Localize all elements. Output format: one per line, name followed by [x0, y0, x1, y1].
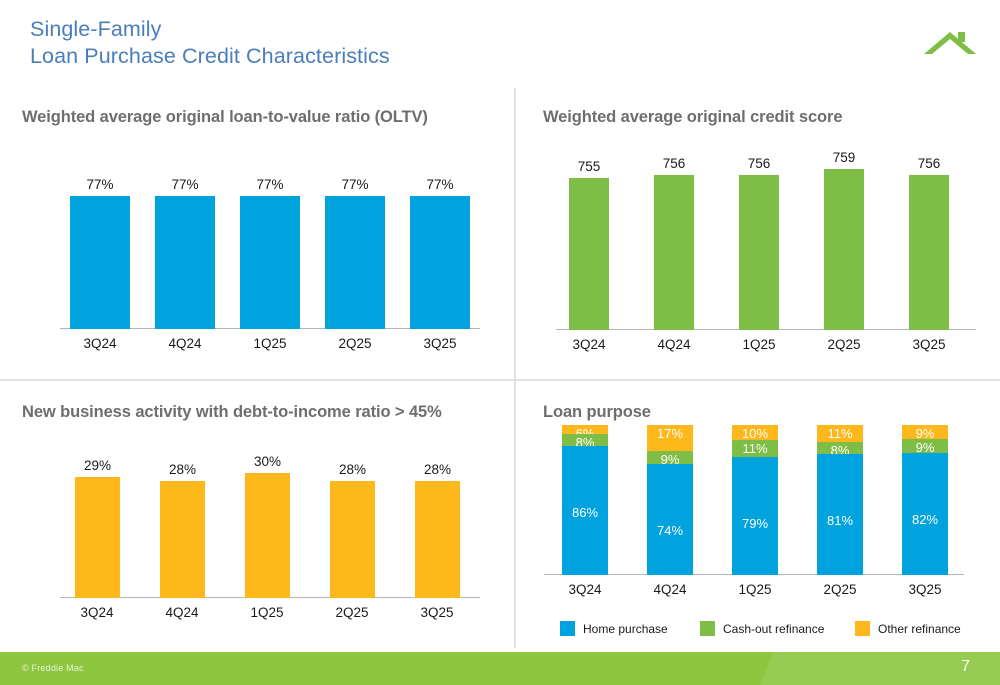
stack-segment-home-purchase[interactable]: 74% — [647, 464, 693, 575]
bar[interactable] — [739, 175, 779, 330]
x-axis-label: 4Q24 — [640, 582, 700, 597]
chart-oltv: 77% 77% 77% 77% 77% — [60, 174, 480, 329]
x-axis-label: 3Q24 — [559, 337, 619, 352]
bar-value-label: 77% — [256, 177, 283, 192]
x-axis-label: 4Q24 — [152, 605, 212, 620]
panel-credit-score: Weighted average original credit score 7… — [516, 88, 1000, 379]
stack-segment-label: 17% — [657, 425, 683, 441]
legend-item-other-refinance[interactable]: Other refinance — [855, 621, 961, 636]
stacked-bar-column[interactable]: 10% 11% 79% — [732, 425, 778, 575]
bar-column[interactable]: 755 — [569, 150, 609, 330]
legend-item-cash-out-refinance[interactable]: Cash-out refinance — [700, 621, 855, 636]
panel-oltv: Weighted average original loan-to-value … — [0, 88, 514, 379]
legend-label: Home purchase — [583, 622, 668, 636]
bar-column[interactable]: 77% — [70, 174, 130, 329]
stack-segment-label: 74% — [657, 522, 683, 538]
bar-value-label: 755 — [578, 159, 601, 174]
bar[interactable] — [245, 473, 290, 598]
legend-swatch-icon — [700, 621, 715, 636]
bar-value-label: 28% — [424, 462, 451, 477]
stack-segment-label: 86% — [572, 504, 598, 520]
stack-segment-home-purchase[interactable]: 81% — [817, 454, 863, 575]
bar-value-label: 756 — [663, 156, 686, 171]
bar[interactable] — [415, 481, 460, 598]
stack-segment-label: 82% — [912, 511, 938, 527]
stacked-bar-column[interactable]: 11% 8% 81% — [817, 425, 863, 575]
bar[interactable] — [155, 196, 215, 329]
page-title: Single-Family Loan Purchase Credit Chara… — [30, 16, 390, 70]
x-axis-label: 3Q25 — [895, 582, 955, 597]
bar-value-label: 756 — [748, 156, 771, 171]
stack-segment-home-purchase[interactable]: 82% — [902, 453, 948, 575]
panel-title-credit-score: Weighted average original credit score — [543, 106, 973, 129]
footer-copyright: © Freddie Mac — [22, 663, 84, 673]
bar-column[interactable]: 77% — [410, 174, 470, 329]
freddie-mac-house-logo — [922, 26, 978, 60]
stack-segment-home-purchase[interactable]: 86% — [562, 446, 608, 575]
x-axis-label: 3Q25 — [899, 337, 959, 352]
panel-title-dti: New business activity with debt-to-incom… — [22, 401, 472, 424]
bar[interactable] — [325, 196, 385, 329]
x-axis-label: 3Q24 — [70, 336, 130, 351]
chart-legend: Home purchase Cash-out refinance Other r… — [560, 621, 980, 636]
bar-column[interactable]: 30% — [245, 453, 290, 598]
stack-segment-other-refinance[interactable]: 10% — [732, 425, 778, 440]
legend-swatch-icon — [560, 621, 575, 636]
stacked-bar-column[interactable]: 9% 9% 82% — [902, 425, 948, 575]
stack-segment-cash-out-refinance[interactable]: 8% — [562, 434, 608, 446]
bar[interactable] — [240, 196, 300, 329]
legend-label: Cash-out refinance — [723, 622, 824, 636]
legend-swatch-icon — [855, 621, 870, 636]
stack-segment-other-refinance[interactable]: 9% — [902, 425, 948, 439]
stack-segment-other-refinance[interactable]: 11% — [817, 425, 863, 442]
x-axis-label: 3Q24 — [67, 605, 127, 620]
stacked-bar-column[interactable]: 6% 8% 86% — [562, 425, 608, 575]
chart-loan-purpose: 6% 8% 86% 17% 9% — [544, 425, 964, 575]
stack-segment-other-refinance[interactable]: 6% — [562, 425, 608, 434]
bar-column[interactable]: 759 — [824, 150, 864, 330]
x-axis-label: 1Q25 — [725, 582, 785, 597]
bar-value-label: 759 — [833, 150, 856, 165]
stack-segment-other-refinance[interactable]: 17% — [647, 425, 693, 451]
bar-column[interactable]: 28% — [415, 453, 460, 598]
bar-value-label: 77% — [171, 177, 198, 192]
legend-label: Other refinance — [878, 622, 961, 636]
bar-value-label: 29% — [84, 458, 111, 473]
bar-value-label: 77% — [341, 177, 368, 192]
chart-dti: 29% 28% 30% 28% 28% — [60, 453, 480, 598]
x-axis-label: 2Q25 — [810, 582, 870, 597]
bar-column[interactable]: 756 — [909, 150, 949, 330]
bar-column[interactable]: 77% — [325, 174, 385, 329]
stack-segment-label: 11% — [742, 440, 767, 456]
bar-value-label: 77% — [426, 177, 453, 192]
stack-segment-label: 11% — [827, 425, 852, 441]
legend-item-home-purchase[interactable]: Home purchase — [560, 621, 700, 636]
stack-segment-cash-out-refinance[interactable]: 9% — [647, 451, 693, 464]
bar-value-label: 756 — [918, 156, 941, 171]
bar[interactable] — [824, 169, 864, 330]
stack-segment-label: 79% — [742, 515, 768, 531]
stack-segment-label: 81% — [827, 512, 853, 528]
x-axis-label: 4Q24 — [644, 337, 704, 352]
chart-credit-score: 755 756 756 759 756 — [556, 150, 976, 330]
x-axis-label: 1Q25 — [240, 336, 300, 351]
x-axis-label: 1Q25 — [729, 337, 789, 352]
bar[interactable] — [909, 175, 949, 330]
stacked-bar-column[interactable]: 17% 9% 74% — [647, 425, 693, 575]
bar-column[interactable]: 29% — [75, 453, 120, 598]
x-axis-label: 3Q25 — [407, 605, 467, 620]
stack-segment-label: 10% — [742, 425, 768, 441]
bar[interactable] — [410, 196, 470, 329]
bar-column[interactable]: 77% — [155, 174, 215, 329]
stack-segment-cash-out-refinance[interactable]: 9% — [902, 439, 948, 453]
bar[interactable] — [330, 481, 375, 598]
bar-value-label: 30% — [254, 454, 281, 469]
footer-page-number: 7 — [961, 658, 970, 676]
x-axis-label: 4Q24 — [155, 336, 215, 351]
bar[interactable] — [70, 196, 130, 329]
bar-column[interactable]: 756 — [739, 150, 779, 330]
x-axis-label: 3Q24 — [555, 582, 615, 597]
slide-footer: © Freddie Mac 7 — [0, 652, 1000, 685]
stack-segment-cash-out-refinance[interactable]: 11% — [732, 440, 778, 457]
x-axis-label: 1Q25 — [237, 605, 297, 620]
panel-loan-purpose: Loan purpose 6% 8% 86% — [516, 381, 1000, 648]
bar-value-label: 77% — [86, 177, 113, 192]
bar-value-label: 28% — [339, 462, 366, 477]
x-axis-label: 2Q25 — [814, 337, 874, 352]
bar[interactable] — [160, 481, 205, 598]
bar[interactable] — [75, 477, 120, 598]
stack-segment-cash-out-refinance[interactable]: 8% — [817, 442, 863, 454]
bar-value-label: 28% — [169, 462, 196, 477]
bar-column[interactable]: 77% — [240, 174, 300, 329]
x-axis-label: 2Q25 — [322, 605, 382, 620]
bar-column[interactable]: 28% — [330, 453, 375, 598]
panel-title-loan-purpose: Loan purpose — [543, 401, 973, 424]
stack-segment-home-purchase[interactable]: 79% — [732, 457, 778, 575]
bar-column[interactable]: 756 — [654, 150, 694, 330]
x-axis-label: 3Q25 — [410, 336, 470, 351]
x-axis-label: 2Q25 — [325, 336, 385, 351]
slide: Single-Family Loan Purchase Credit Chara… — [0, 0, 1000, 685]
bar-column[interactable]: 28% — [160, 453, 205, 598]
panel-dti: New business activity with debt-to-incom… — [0, 381, 514, 648]
bar[interactable] — [654, 175, 694, 330]
panel-title-oltv: Weighted average original loan-to-value … — [22, 106, 472, 129]
bar[interactable] — [569, 178, 609, 330]
